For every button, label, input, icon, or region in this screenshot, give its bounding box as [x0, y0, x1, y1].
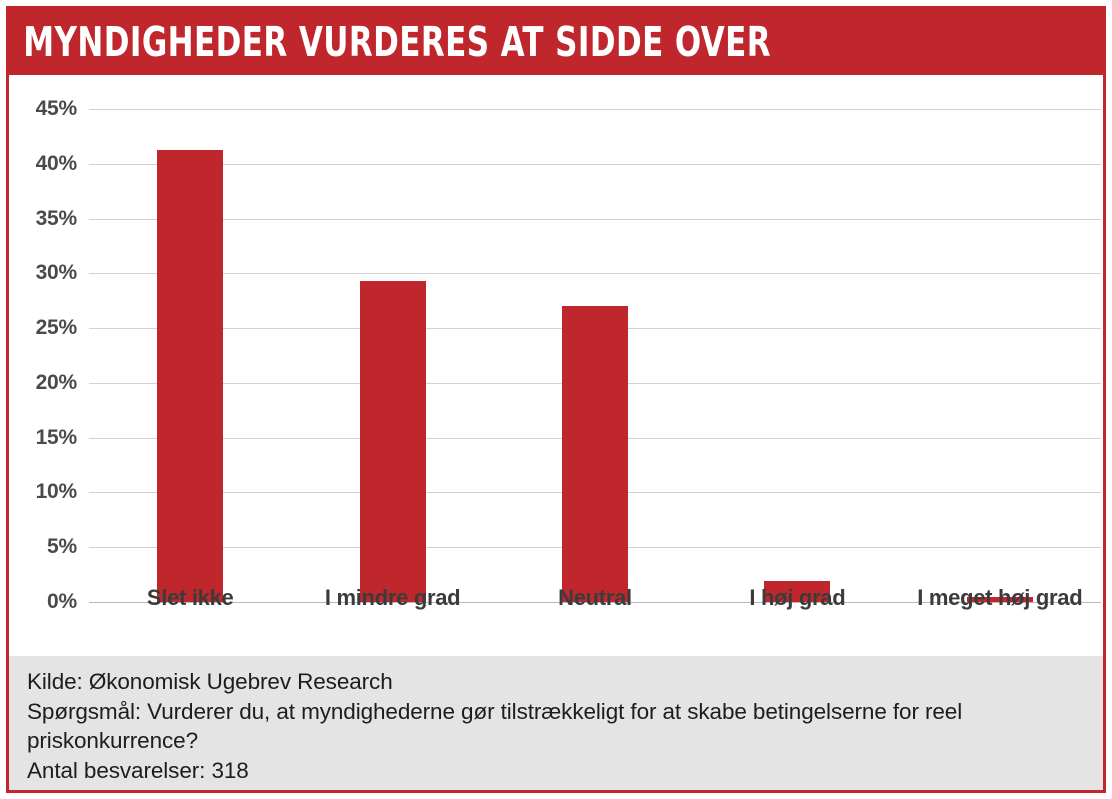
- x-axis-categories: Slet ikkeI mindre gradNeutralI høj gradI…: [9, 75, 1103, 656]
- x-axis-label: I høj grad: [749, 585, 845, 611]
- footer-source: Kilde: Økonomisk Ugebrev Research: [27, 667, 1103, 697]
- x-axis-label: Neutral: [558, 585, 632, 611]
- x-axis-label: I mindre grad: [325, 585, 460, 611]
- chart-figure: MYNDIGHEDER VURDERES AT SIDDE OVER 0%5%1…: [0, 0, 1112, 799]
- chart-frame: MYNDIGHEDER VURDERES AT SIDDE OVER 0%5%1…: [6, 6, 1106, 793]
- chart-title-banner: MYNDIGHEDER VURDERES AT SIDDE OVER: [9, 9, 1103, 75]
- x-axis-label: I meget høj grad: [917, 585, 1082, 611]
- chart-footer: Kilde: Økonomisk Ugebrev Research Spørgs…: [9, 656, 1103, 790]
- footer-question: Spørgsmål: Vurderer du, at myndighederne…: [27, 697, 1027, 756]
- page-title: MYNDIGHEDER VURDERES AT SIDDE OVER: [9, 22, 771, 63]
- plot-area: 0%5%10%15%20%25%30%35%40%45% Slet ikkeI …: [9, 75, 1103, 656]
- x-axis-label: Slet ikke: [147, 585, 234, 611]
- footer-responses: Antal besvarelser: 318: [27, 756, 1103, 786]
